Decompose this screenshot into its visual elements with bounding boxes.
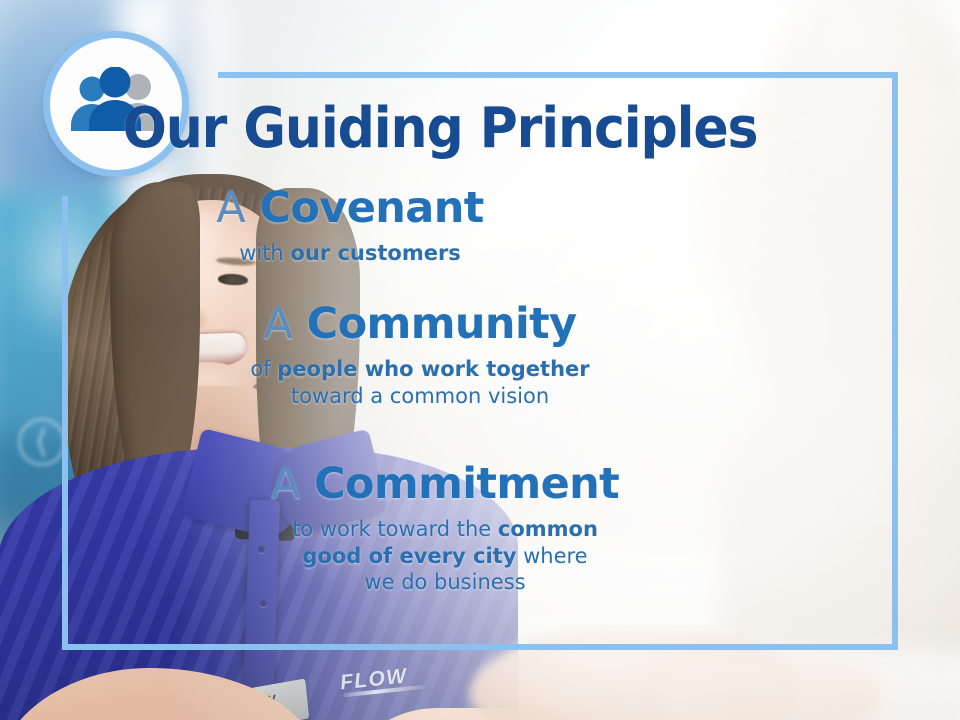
principle-heading: A Community	[0, 302, 840, 347]
page-title: Our Guiding Principles	[31, 96, 849, 161]
principle-article: A	[216, 183, 245, 233]
subtext-line: to work toward the common	[0, 516, 890, 543]
subtext-span: where	[516, 544, 587, 568]
principle-block-covenant: A Covenant with our customers	[0, 186, 700, 267]
subtext-line: of people who work together	[0, 356, 840, 383]
principle-heading: A Commitment	[0, 462, 890, 507]
principle-subtext: to work toward the common good of every …	[0, 516, 890, 597]
subtext-span-bold: people who work together	[277, 357, 589, 381]
principle-heading: A Covenant	[0, 186, 700, 231]
principle-subtext: of people who work together toward a com…	[0, 356, 840, 410]
subtext-span-bold: good of every city	[302, 544, 516, 568]
subtext-span: of	[250, 357, 277, 381]
principle-block-community: A Community of people who work together …	[0, 302, 840, 409]
subtext-line: good of every city where	[0, 543, 890, 570]
subtext-line: toward a common vision	[0, 383, 840, 410]
guiding-principles-graphic: FLOW AUTOMOTIVE FLOW	[0, 0, 960, 720]
subtext-line: with our customers	[0, 240, 700, 267]
principle-word: Community	[307, 299, 577, 349]
subtext-span-bold: our customers	[290, 241, 460, 265]
subtext-span: we do business	[364, 570, 525, 594]
subtext-span: to work toward the	[292, 517, 498, 541]
principle-article: A	[271, 459, 300, 509]
principle-word: Commitment	[314, 459, 619, 509]
principle-word: Covenant	[259, 183, 483, 233]
principle-subtext: with our customers	[0, 240, 700, 267]
principle-block-commitment: A Commitment to work toward the common g…	[0, 462, 890, 596]
text-content: Our Guiding Principles A Covenant with o…	[0, 0, 960, 720]
subtext-span: toward a common vision	[291, 384, 549, 408]
subtext-line: we do business	[0, 569, 890, 596]
subtext-span: with	[239, 241, 290, 265]
subtext-span-bold: common	[498, 517, 598, 541]
principle-article: A	[264, 299, 293, 349]
